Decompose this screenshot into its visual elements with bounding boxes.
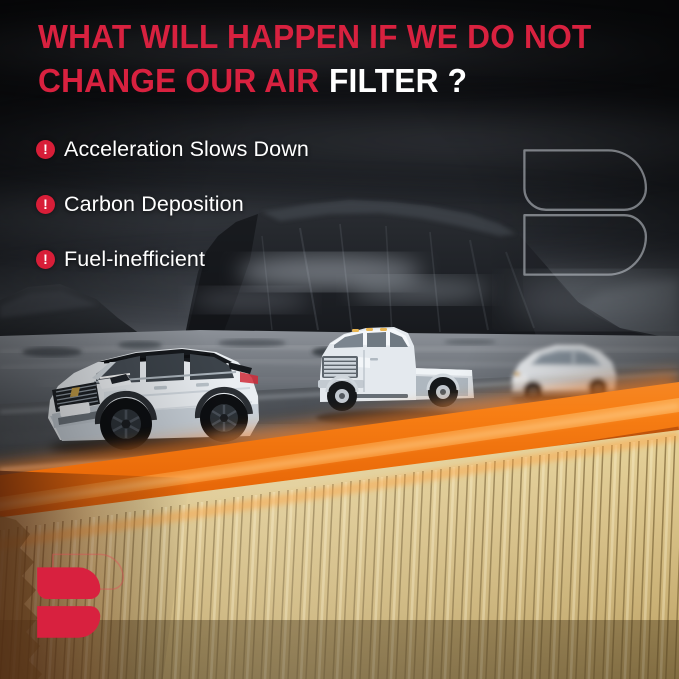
benefit-list: ! Acceleration Slows Down ! Carbon Depos…	[36, 134, 309, 299]
list-item: ! Fuel-inefficient	[36, 244, 309, 274]
poster-root: WHAT WILL HAPPEN IF WE DO NOT CHANGE OUR…	[0, 0, 679, 679]
exclamation-circle-icon: !	[36, 140, 55, 159]
list-item-label: Carbon Deposition	[64, 192, 244, 217]
exclamation-glyph: !	[43, 195, 48, 213]
exclamation-glyph: !	[43, 250, 48, 268]
list-item-label: Fuel-inefficient	[64, 247, 205, 272]
headline-line-2: CHANGE OUR AIRFILTER ?	[38, 64, 591, 97]
list-item: ! Acceleration Slows Down	[36, 134, 309, 164]
list-item-label: Acceleration Slows Down	[64, 137, 309, 162]
headline-line-2-red: CHANGE OUR AIR	[38, 62, 319, 99]
headline-line-1: WHAT WILL HAPPEN IF WE DO NOT	[38, 20, 591, 53]
brand-logo-solid-icon	[37, 566, 109, 642]
headline-line-2-white: FILTER ?	[329, 62, 467, 99]
headline: WHAT WILL HAPPEN IF WE DO NOT CHANGE OUR…	[38, 20, 615, 108]
exclamation-glyph: !	[43, 140, 48, 158]
list-item: ! Carbon Deposition	[36, 189, 309, 219]
exclamation-circle-icon: !	[36, 195, 55, 214]
exclamation-circle-icon: !	[36, 250, 55, 269]
brand-logo-outline-icon	[519, 145, 654, 280]
